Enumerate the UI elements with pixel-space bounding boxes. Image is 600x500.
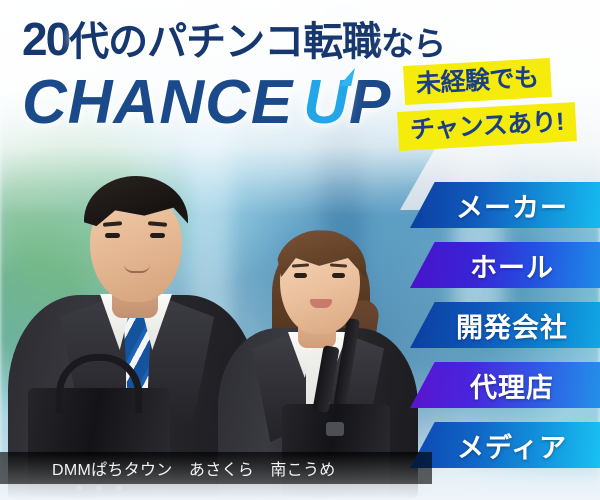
category-button-development-company[interactable]: 開発会社 [410, 302, 600, 348]
category-button-maker[interactable]: メーカー [410, 182, 600, 228]
advertisement-banner[interactable]: 20代のパチンコ転職なら CHANCEUP 未経験でも チャンスあり! メーカー… [0, 0, 600, 500]
category-label-development-company: 開発会社 [442, 306, 568, 345]
category-button-media[interactable]: メディア [410, 422, 600, 468]
category-button-list: メーカー ホール 開発会社 代理店 メディア [0, 0, 600, 500]
category-label-hall: ホール [456, 246, 554, 285]
credit-text: DMMぱちタウン あさくら 南こうめ [0, 456, 336, 480]
category-button-hall[interactable]: ホール [410, 242, 600, 288]
category-button-agency[interactable]: 代理店 [410, 362, 600, 408]
category-label-agency: 代理店 [456, 366, 554, 405]
category-label-media: メディア [443, 426, 567, 465]
credit-bar: DMMぱちタウン あさくら 南こうめ [0, 452, 432, 484]
category-label-maker: メーカー [442, 186, 568, 225]
